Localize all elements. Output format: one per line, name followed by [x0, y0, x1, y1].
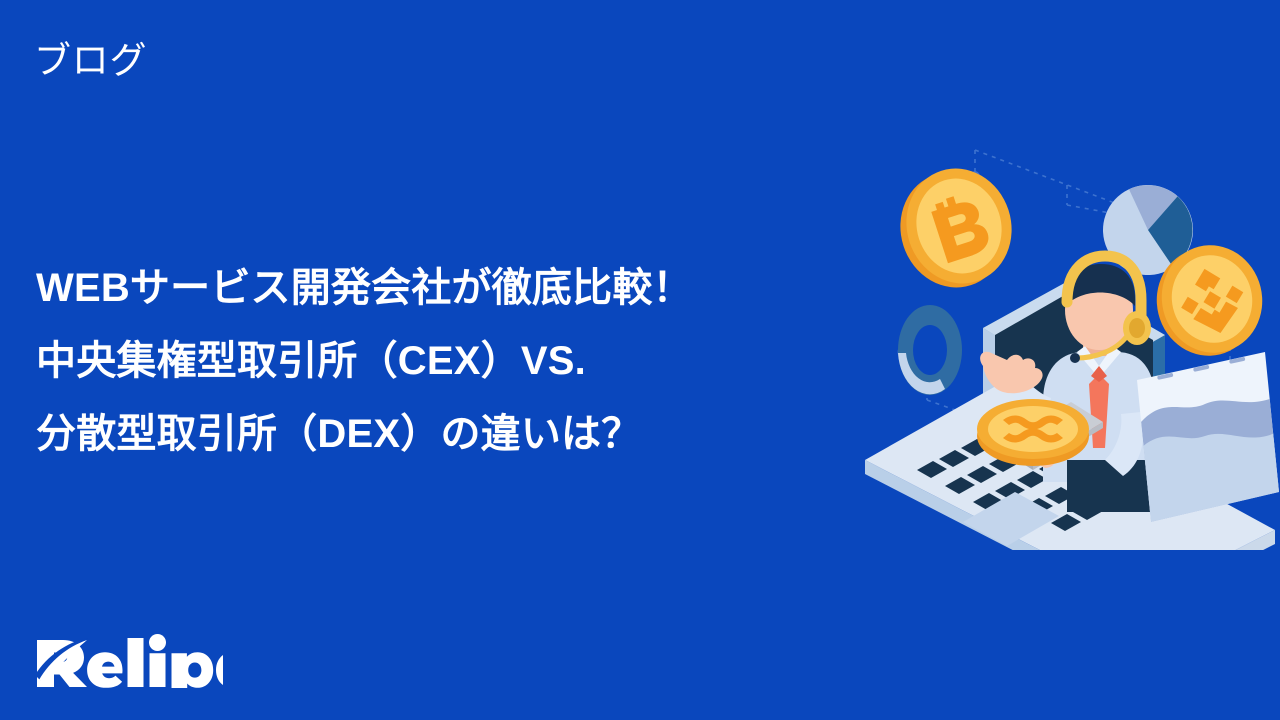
relipa-wordmark-icon	[33, 634, 223, 688]
crypto-illustration	[855, 130, 1280, 550]
title-line-1: WEBサービス開発会社が徹底比較！	[36, 252, 866, 325]
page-title: WEBサービス開発会社が徹底比較！ 中央集権型取引所（CEX）VS. 分散型取引…	[36, 252, 866, 471]
ripple-coin-icon	[977, 399, 1089, 466]
title-line-3: 分散型取引所（DEX）の違いは？	[36, 398, 866, 471]
donut-chart	[898, 305, 962, 395]
title-line-2: 中央集権型取引所（CEX）VS.	[36, 325, 866, 398]
bitcoin-coin-icon	[886, 155, 1027, 301]
relipa-logo	[33, 634, 223, 688]
blog-thumbnail-card: ブログ WEBサービス開発会社が徹底比較！ 中央集権型取引所（CEX）VS. 分…	[0, 0, 1280, 720]
area-chart-card	[1137, 352, 1279, 522]
category-label: ブログ	[34, 38, 147, 84]
